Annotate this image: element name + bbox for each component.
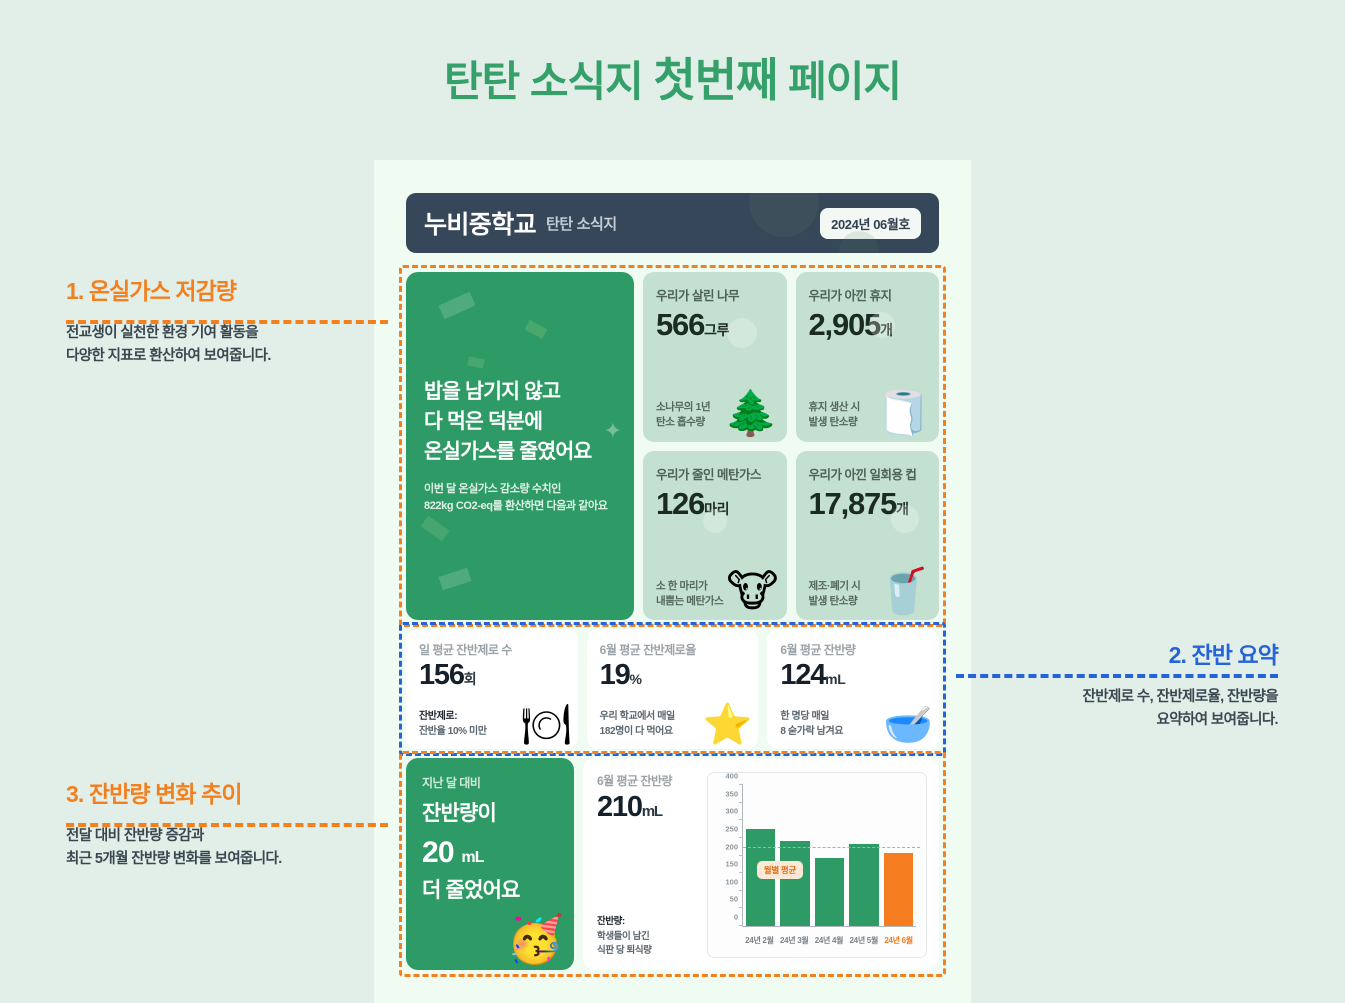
summary-card-zero-rate: 6월 평균 잔반제로율 19% ⭐ 우리 학교에서 매일 182명이 다 먹어요 [587,629,759,749]
summary-footnote: 한 명당 매일 8 숟가락 남겨요 [780,710,926,739]
summary-footnote-line1: 한 명당 매일 [780,711,829,722]
trend-number: 20 mL [422,836,484,869]
chart-y-tick-label: 100 [725,877,743,886]
summary-number: 156 [419,659,464,691]
greenhouse-hero-card: ✦ 밥을 남기지 않고 다 먹은 덕분에 온실가스를 줄였어요 이번 달 온실가… [406,272,634,620]
annotation-1-line1: 전교생이 실천한 환경 기여 활동을 [66,325,258,341]
stat-card-tissue: 우리가 아낀 휴지 2,905개 🧻 휴지 생산 시 발생 탄소량 [796,272,940,442]
annotation-2-description: 잔반제로 수, 잔반제로율, 잔반량을 요약하여 보여줍니다. [948,686,1278,733]
hero-headline-line3: 온실가스를 줄였어요 [424,440,591,463]
newsletter-frame: 누비중학교 탄탄 소식지 2024년 06월호 ✦ 밥을 남기지 않고 다 먹은… [374,160,971,1003]
chart-average-label: 월별 평균 [757,861,803,879]
chart-y-tick-label: 250 [725,824,743,833]
hero-desc-line2: 822kg CO2-eq를 환산하면 다음과 같아요 [424,500,607,512]
stat-footnote-line2: 탄소 흡수량 [656,416,705,428]
chart-y-tick-label: 350 [725,789,743,798]
trend-footnote-strong: 잔반량: [597,916,625,927]
annotation-3-line2: 최근 5개월 잔반량 변화를 보여줍니다. [66,851,282,867]
summary-value: 124mL [780,659,926,692]
chart-bars [743,785,916,926]
annotation-3-title: 3. 잔반량 변화 추이 [66,775,406,809]
confetti-shape [438,292,475,320]
decoration-dot [703,509,727,533]
summary-card-avg-leftover: 6월 평균 잔반량 124mL 🥣 한 명당 매일 8 숟가락 남겨요 [767,629,939,749]
stat-footnote-line1: 소 한 마리가 [656,580,707,592]
annotation-3-description: 전달 대비 잔반량 증감과 최근 5개월 잔반량 변화를 보여줍니다. [66,825,406,872]
chart-bar[interactable] [815,858,844,926]
trend-stat-number: 210 [597,791,642,823]
trend-footnote-line1: 학생들이 남긴 [597,931,649,942]
hero-headline-line1: 밥을 남기지 않고 [424,380,560,403]
chart-x-label: 24년 4월 [814,935,844,946]
summary-footnote-line2: 잔반율 10% 미만 [419,726,487,737]
annotation-2: 2. 잔반 요약 잔반제로 수, 잔반제로율, 잔반량을 요약하여 보여줍니다. [948,636,1278,733]
newsletter-page: 탄탄 소식지 첫번째 페이지 누비중학교 탄탄 소식지 2024년 06월호 ✦… [0,0,1345,1003]
stat-footnote-line2: 발생 탄소량 [809,416,858,428]
page-title-part2: 페이지 [777,58,901,105]
chart-y-tick-label: 50 [730,895,743,904]
stat-label: 우리가 아낀 휴지 [809,285,927,304]
annotation-1-title: 1. 온실가스 저감량 [66,272,396,306]
stat-footnote-line2: 내뿜는 메탄가스 [656,595,723,607]
stat-label: 우리가 아낀 일회용 컵 [809,464,927,483]
trend-footnote-line2: 식판 당 퇴식량 [597,945,652,956]
section-leftover-summary: 일 평균 잔반제로 수 156회 🍽 잔반제로: 잔반율 10% 미만 6월 평… [406,629,939,749]
chart-bar[interactable] [849,844,878,926]
summary-footnote-line2: 8 숟가락 남겨요 [780,726,843,737]
annotation-2-line2: 요약하여 보여줍니다. [1156,712,1278,728]
summary-value: 19% [600,659,746,692]
chart-x-labels: 24년 2월24년 3월24년 4월24년 5월24년 6월 [742,932,916,948]
summary-unit: mL [825,671,845,687]
summary-footnote: 잔반제로: 잔반율 10% 미만 [419,710,565,739]
stat-footnote-line1: 소나무의 1년 [656,401,710,413]
stat-value: 2,905개 [809,307,927,343]
annotation-1-description: 전교생이 실천한 환경 기여 활동을 다양한 지표로 환산하여 보여줍니다. [66,322,396,369]
trend-number-value: 20 [422,836,454,869]
summary-label: 6월 평균 잔반제로율 [600,641,746,658]
confetti-shape [467,356,485,368]
chart-bar[interactable] [884,853,913,926]
chart-bar[interactable] [780,841,809,926]
chart-y-tick-label: 300 [725,807,743,816]
stat-footnote-line2: 발생 탄소량 [809,595,858,607]
partying-face-icon: 🥳 [507,916,564,962]
trend-number-unit: mL [461,849,483,866]
summary-unit: 회 [464,671,477,687]
decoration-dot [727,318,757,348]
conversion-cards-grid: 우리가 살린 나무 566그루 🌲 소나무의 1년 탄소 흡수량 우리가 아낀 … [643,272,939,620]
trend-headline-line1: 잔반량이 [422,802,496,825]
trend-headline-line2: 더 줄었어요 [422,879,520,902]
trend-stat-label: 6월 평균 잔반량 [597,772,701,789]
trend-stat-block: 6월 평균 잔반량 210mL 잔반량: 학생들이 남긴 식판 당 퇴식량 [597,772,701,958]
chart-x-label: 24년 5월 [849,935,879,946]
chart-plot-area: 050100150200250300350400 월별 평균 [742,785,916,927]
chart-x-label: 24년 2월 [745,935,775,946]
chart-bar-slot[interactable] [849,785,878,926]
stat-card-disposable-cup: 우리가 아낀 일회용 컵 17,875개 🥤 제조·폐기 시 발생 탄소량 [796,451,940,621]
summary-unit: % [630,671,642,687]
annotation-3: 3. 잔반량 변화 추이 전달 대비 잔반량 증감과 최근 5개월 잔반량 변화… [66,775,406,872]
summary-label: 일 평균 잔반제로 수 [419,641,565,658]
chart-x-label: 24년 3월 [779,935,809,946]
page-title-emphasis: 첫번째 [653,54,777,106]
chart-y-tick-label: 0 [734,913,743,922]
stat-footnote: 소나무의 1년 탄소 흡수량 [656,400,774,430]
chart-y-tick-label: 200 [725,842,743,851]
stat-footnote: 제조·폐기 시 발생 탄소량 [809,579,927,609]
trend-stat-footnote: 잔반량: 학생들이 남긴 식판 당 퇴식량 [597,915,701,958]
summary-label: 6월 평균 잔반량 [780,641,926,658]
confetti-shape [421,516,450,542]
section-leftover-trend: 지난 달 대비 잔반량이 20 mL 더 줄었어요 🥳 6월 평균 잔반량 21… [406,758,939,970]
trend-stat-value: 210mL [597,791,701,824]
stat-number: 17,875 [809,486,897,521]
chart-bar-slot[interactable] [746,785,775,926]
decoration-dot [891,505,919,533]
chart-bar-slot[interactable] [780,785,809,926]
school-name: 누비중학교 [424,205,536,241]
section-greenhouse-gas: ✦ 밥을 남기지 않고 다 먹은 덕분에 온실가스를 줄였어요 이번 달 온실가… [406,272,939,620]
header-decoration-circle [749,193,819,237]
stat-footnote: 소 한 마리가 내뿜는 메탄가스 [656,579,774,609]
stat-number: 126 [656,486,704,521]
stat-number: 566 [656,307,704,342]
summary-value: 156회 [419,659,565,692]
newsletter-header: 누비중학교 탄탄 소식지 2024년 06월호 [406,193,939,253]
annotation-3-line1: 전달 대비 잔반량 증감과 [66,828,204,844]
summary-footnote-line2: 182명이 다 먹어요 [600,726,673,737]
annotation-2-title: 2. 잔반 요약 [948,636,1278,670]
chart-y-tick-label: 400 [725,772,743,781]
summary-number: 19 [600,659,630,691]
trend-chart-card: 6월 평균 잔반량 210mL 잔반량: 학생들이 남긴 식판 당 퇴식량 05… [583,758,939,970]
summary-number: 124 [780,659,825,691]
stat-label: 우리가 줄인 메탄가스 [656,464,774,483]
annotation-1: 1. 온실가스 저감량 전교생이 실천한 환경 기여 활동을 다양한 지표로 환… [66,272,396,369]
confetti-shape [439,568,472,591]
chart-bar-slot[interactable] [884,785,913,926]
chart-x-label: 24년 6월 [884,935,914,946]
summary-footnote-line1: 우리 학교에서 매일 [600,711,675,722]
stat-unit: 그루 [704,322,729,338]
page-title: 탄탄 소식지 첫번째 페이지 [0,44,1345,110]
hero-desc-line1: 이번 달 온실가스 감소량 수치인 [424,483,561,495]
leftover-bar-chart[interactable]: 050100150200250300350400 월별 평균 24년 2월24년… [707,772,927,958]
hero-headline: 밥을 남기지 않고 다 먹은 덕분에 온실가스를 줄였어요 [424,377,616,466]
chart-y-tick-label: 150 [725,860,743,869]
trend-compare-label: 지난 달 대비 [422,774,558,791]
annotation-1-line2: 다양한 지표로 환산하여 보여줍니다. [66,348,271,364]
hero-description: 이번 달 온실가스 감소량 수치인 822kg CO2-eq를 환산하면 다음과… [424,481,616,515]
chart-bar-slot[interactable] [815,785,844,926]
page-title-part1: 탄탄 소식지 [444,58,654,105]
newsletter-subtitle: 탄탄 소식지 [546,213,617,234]
trend-highlight-card: 지난 달 대비 잔반량이 20 mL 더 줄었어요 🥳 [406,758,574,970]
stat-footnote: 휴지 생산 시 발생 탄소량 [809,400,927,430]
summary-footnote: 우리 학교에서 매일 182명이 다 먹어요 [600,710,746,739]
summary-footnote-strong: 잔반제로: [419,711,457,722]
stat-label: 우리가 살린 나무 [656,285,774,304]
stat-card-trees: 우리가 살린 나무 566그루 🌲 소나무의 1년 탄소 흡수량 [643,272,787,442]
annotation-2-line1: 잔반제로 수, 잔반제로율, 잔반량을 [1082,689,1278,705]
trend-stat-unit: mL [642,803,662,820]
stat-card-methane: 우리가 줄인 메탄가스 126마리 🐮 소 한 마리가 내뿜는 메탄가스 [643,451,787,621]
stat-footnote-line1: 휴지 생산 시 [809,401,860,413]
stat-footnote-line1: 제조·폐기 시 [809,580,861,592]
trend-headline: 잔반량이 20 mL 더 줄었어요 [422,798,558,906]
hero-headline-line2: 다 먹은 덕분에 [424,410,542,433]
confetti-shape [525,320,548,339]
chart-average-line [743,847,920,848]
summary-card-zero-count: 일 평균 잔반제로 수 156회 🍽 잔반제로: 잔반율 10% 미만 [406,629,578,749]
decoration-dot [869,312,895,338]
